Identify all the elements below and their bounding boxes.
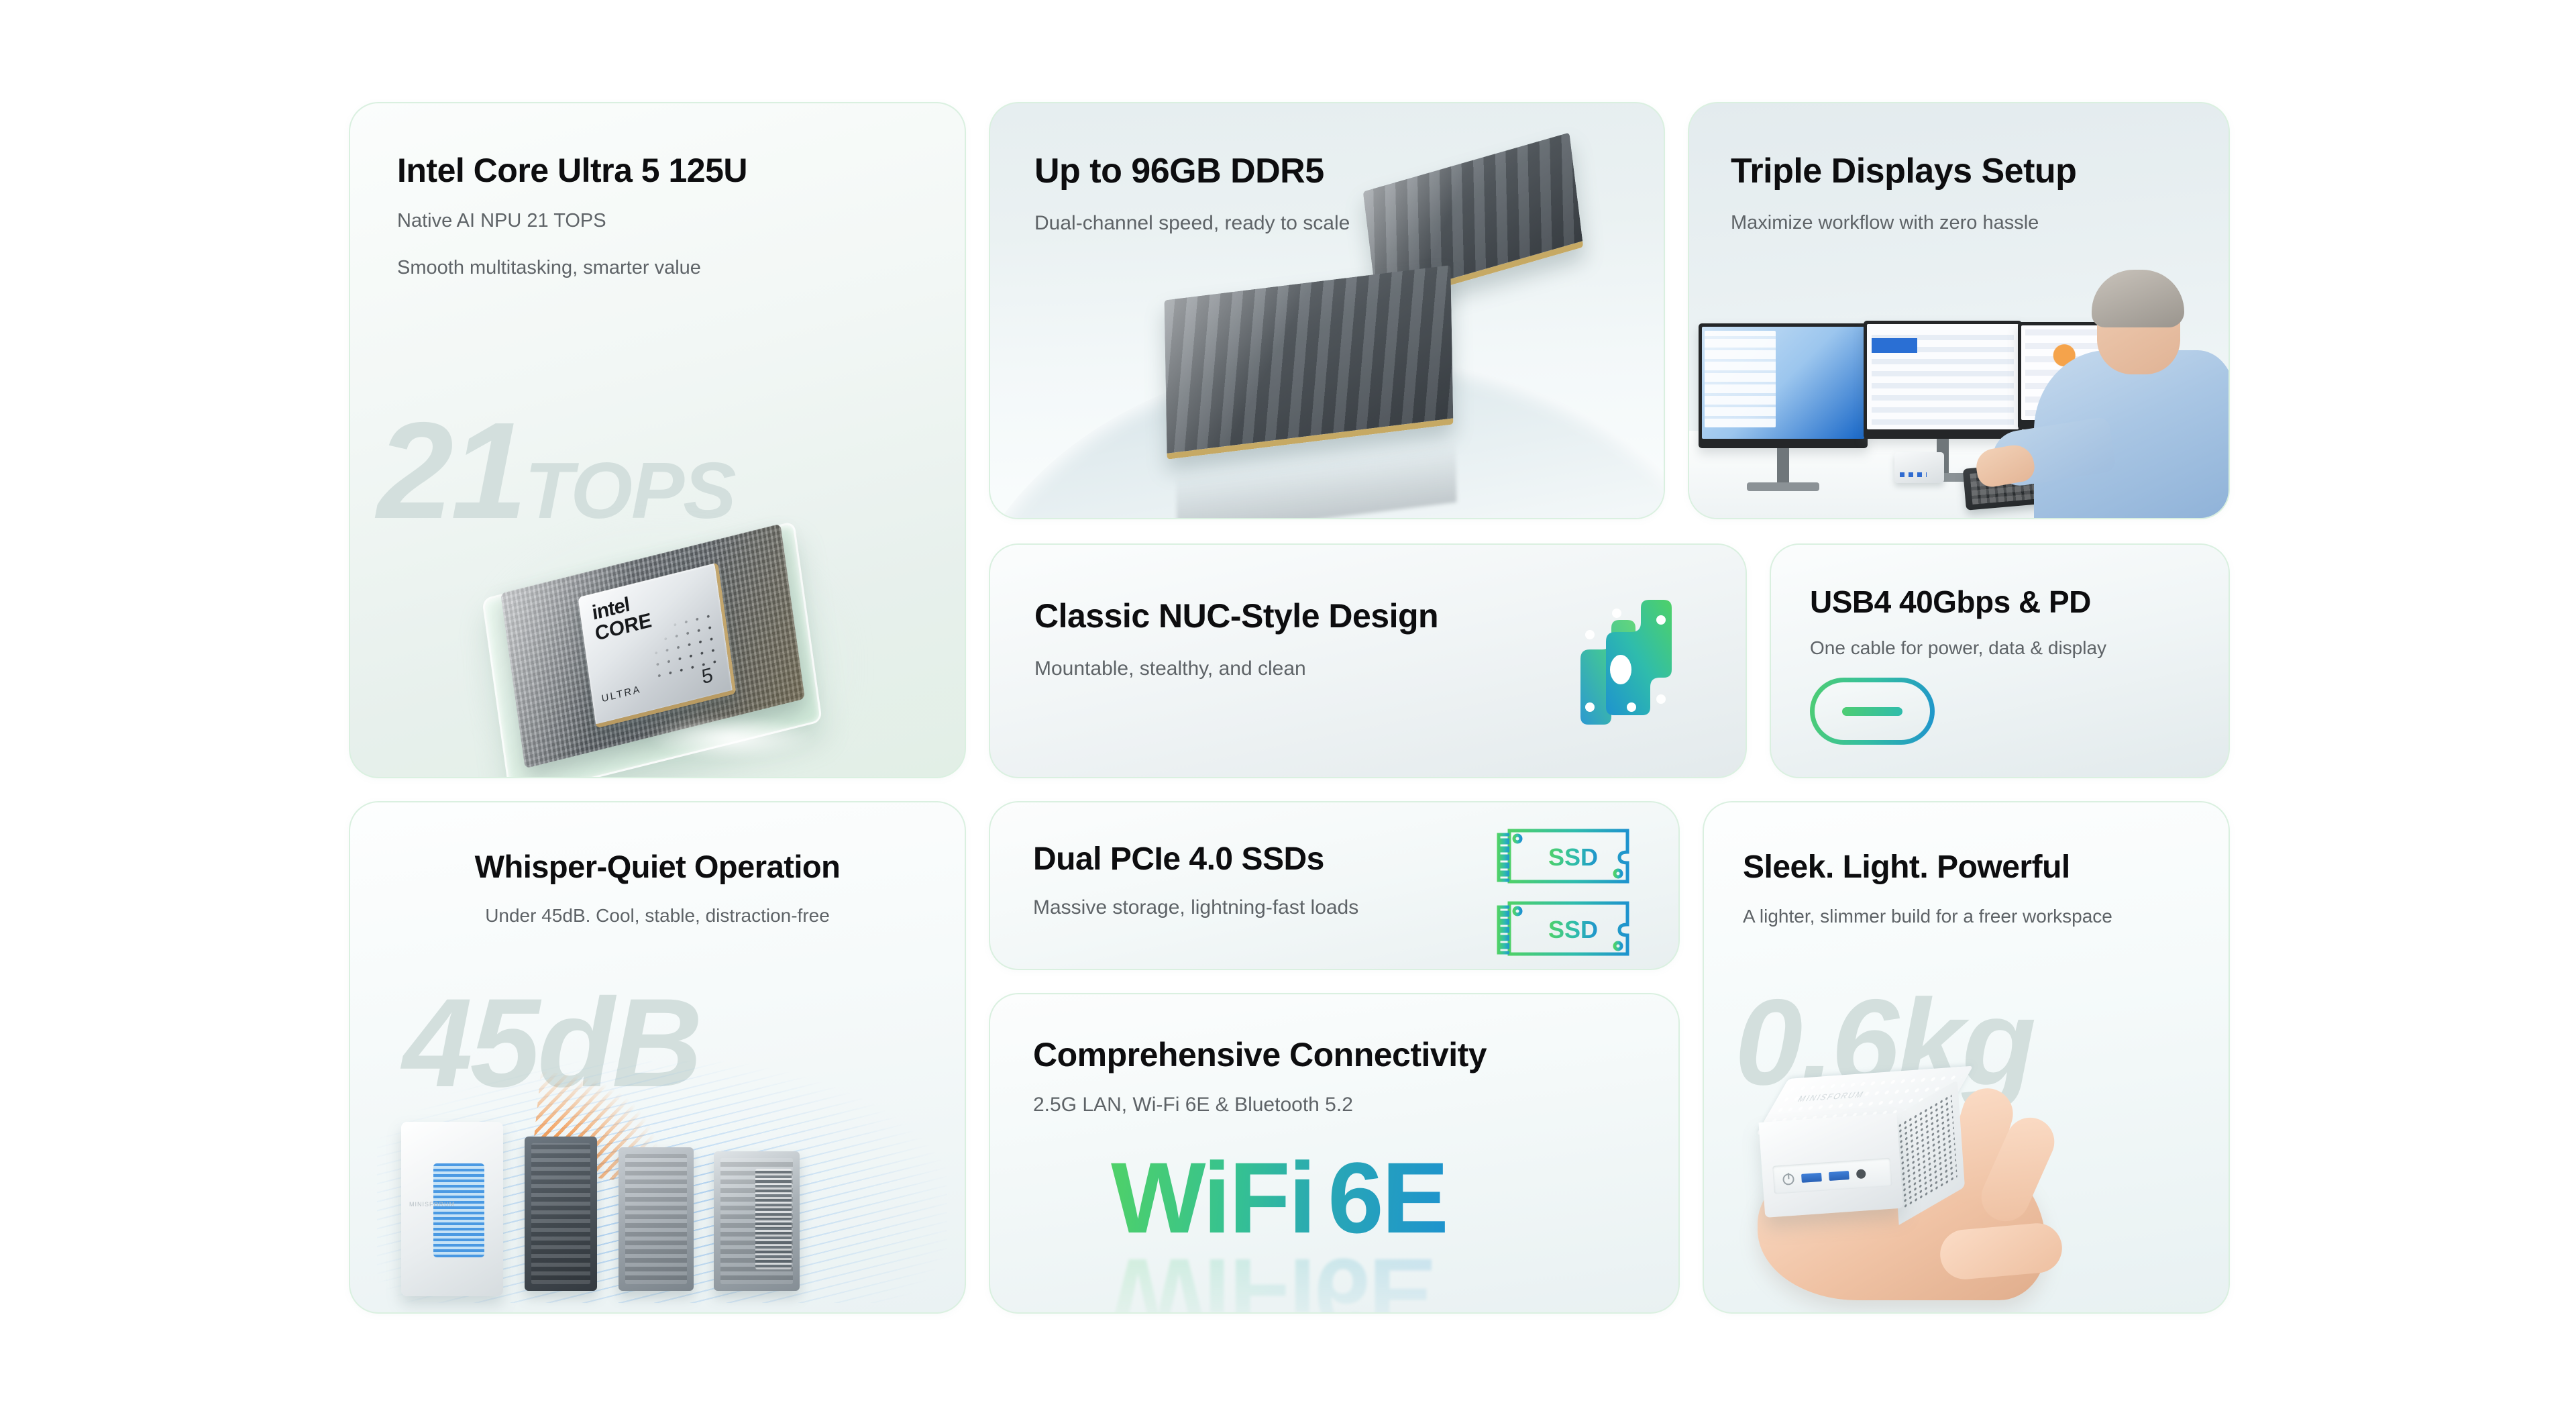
monitor-center-screen: [1867, 324, 2019, 429]
wifi-6e-brand-mark: WiFi6E: [1111, 1147, 1447, 1248]
hand-holding-minipc-illustration: MINISFORUM: [1731, 1031, 2200, 1312]
monitor-left-base: [1747, 482, 1819, 491]
usb-c-port-inner: [1815, 682, 1930, 740]
audio-jack: [1856, 1169, 1866, 1179]
usb-c-port-icon: [1810, 678, 1935, 745]
feature-card-ssd[interactable]: SSD SSD Dual PCIe 4.0 SSDs Massive stora…: [989, 801, 1680, 970]
usb-a-port-1: [1801, 1172, 1822, 1182]
card-title: Intel Core Ultra 5 125U: [397, 152, 965, 189]
person-hair: [2092, 270, 2184, 327]
card-title: Up to 96GB DDR5: [1034, 152, 1664, 191]
power-button-icon: [1782, 1173, 1794, 1185]
person-at-desk: [2014, 270, 2230, 518]
card-subtitle-line1: Native AI NPU 21 TOPS: [397, 207, 965, 236]
cpu-light-flare: [645, 715, 820, 762]
card-subtitle-line2: Smooth multitasking, smarter value: [397, 254, 965, 283]
card-subtitle: Massive storage, lightning-fast loads: [1033, 894, 1678, 923]
mini-pc-front-face: [1759, 1113, 1903, 1218]
card-subtitle: One cable for power, data & display: [1810, 635, 2229, 662]
desk-scene-illustration: [1689, 270, 2229, 518]
cpu-illustration: intel CORE ULTRA 5: [444, 479, 887, 768]
card-subtitle: Maximize workflow with zero hassle: [1731, 209, 2229, 237]
card-subtitle: 2.5G LAN, Wi-Fi 6E & Bluetooth 5.2: [1033, 1091, 1678, 1120]
card-subtitle: Under 45dB. Cool, stable, distraction-fr…: [350, 902, 965, 929]
feature-card-memory[interactable]: Up to 96GB DDR5 Dual-channel speed, read…: [989, 102, 1665, 519]
card-title: USB4 40Gbps & PD: [1810, 585, 2229, 620]
exploded-view-illustration: MINISFORUM: [377, 1061, 947, 1303]
chassis-vent: [433, 1163, 484, 1257]
feature-card-displays[interactable]: Triple Displays Setup Maximize workflow …: [1688, 102, 2230, 519]
feature-card-sleek-light[interactable]: 0.6kg MINISFORUM: [1703, 801, 2230, 1314]
card-title: Sleek. Light. Powerful: [1743, 849, 2229, 886]
card-subtitle: A lighter, slimmer build for a freer wor…: [1743, 903, 2229, 930]
monitor-left-screen: [1702, 327, 1864, 439]
monitor-left: [1699, 323, 1868, 448]
monitor-center: [1864, 321, 2022, 439]
intel-logo: intel CORE: [591, 590, 653, 645]
card-subtitle: Mountable, stealthy, and clean: [1034, 655, 1746, 684]
monitor-left-stand: [1777, 448, 1789, 486]
card-title: Classic NUC-Style Design: [1034, 597, 1746, 635]
card-title: Dual PCIe 4.0 SSDs: [1033, 841, 1678, 878]
internal-plate-1: [525, 1137, 597, 1291]
heatsink-assembly: [714, 1151, 800, 1291]
mini-pc-on-desk: [1894, 452, 1944, 483]
feature-card-nuc-design[interactable]: Classic NUC-Style Design Mountable, stea…: [989, 543, 1747, 778]
chassis-shell: MINISFORUM: [401, 1122, 503, 1296]
feature-card-quiet-operation[interactable]: 45dB MINISFORUM Whisper-Quiet Operation …: [349, 801, 966, 1314]
chassis-brand-label: MINISFORUM: [409, 1201, 455, 1208]
mini-pc-io-panel: [1772, 1158, 1892, 1194]
usb-a-port-2: [1829, 1170, 1849, 1180]
card-subtitle: Dual-channel speed, ready to scale: [1034, 209, 1664, 238]
feature-grid-page: 21TOPS intel CORE ULTRA 5 Intel Core Ult…: [0, 0, 2576, 1417]
mini-pc-vent-mesh: [1897, 1093, 1957, 1210]
feature-card-usb4[interactable]: USB4 40Gbps & PD One cable for power, da…: [1770, 543, 2230, 778]
thumb: [1938, 1221, 2064, 1281]
card-title: Whisper-Quiet Operation: [350, 849, 965, 885]
mini-pc-device: MINISFORUM: [1756, 1066, 1978, 1219]
internal-plate-2: [619, 1147, 694, 1291]
feature-card-connectivity[interactable]: WiFi6E WiFi6E Comprehensive Connectivity…: [989, 993, 1680, 1314]
usb-c-pin-bar: [1842, 707, 1902, 716]
feature-card-cpu[interactable]: 21TOPS intel CORE ULTRA 5 Intel Core Ult…: [349, 102, 966, 778]
card-title: Triple Displays Setup: [1731, 152, 2229, 191]
card-title: Comprehensive Connectivity: [1033, 1036, 1678, 1073]
wifi-6e-reflection: WiFi6E: [1111, 1244, 1434, 1314]
chip-tier-label: ULTRA: [601, 684, 642, 705]
